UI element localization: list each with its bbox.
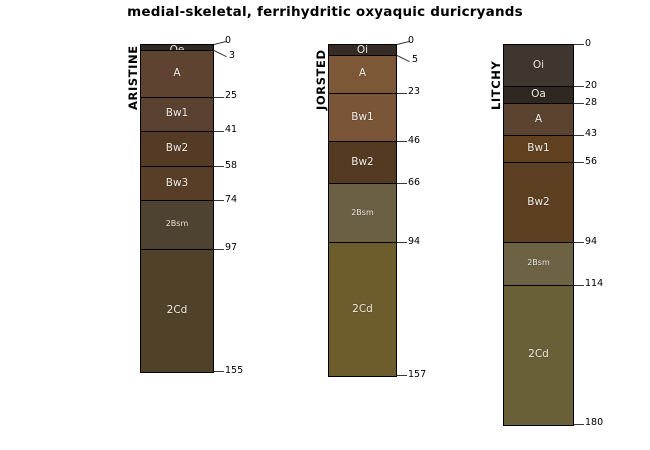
depth-tick-label: 56 <box>585 157 597 167</box>
profile-site-label: ARISTINE <box>126 45 140 110</box>
soil-horizon: Oi <box>504 45 573 87</box>
depth-tick-label: 114 <box>585 279 603 289</box>
depth-tick-line <box>214 371 224 372</box>
soil-horizon: 2Bsm <box>504 243 573 285</box>
soil-horizon: Bw1 <box>141 98 213 132</box>
depth-tick-label: 97 <box>225 243 237 253</box>
horizon-label: 2Bsm <box>141 220 213 228</box>
profile-column: OiABw1Bw22Bsm2Cd <box>328 44 397 377</box>
horizon-label: A <box>329 68 396 79</box>
depth-tick-line <box>214 249 224 250</box>
depth-tick-label: 5 <box>412 55 418 65</box>
profile-column: OiOaABw1Bw22Bsm2Cd <box>503 44 574 426</box>
horizon-label: 2Cd <box>329 304 396 315</box>
depth-tick-label: 20 <box>585 81 597 91</box>
depth-tick-label: 157 <box>408 370 426 380</box>
soil-horizon: A <box>141 51 213 97</box>
depth-tick-label: 23 <box>408 87 420 97</box>
depth-tick-line <box>214 166 224 167</box>
page-title: medial-skeletal, ferrihydritic oxyaquic … <box>0 4 650 20</box>
profile-column: OeABw1Bw2Bw32Bsm2Cd <box>140 44 214 373</box>
horizon-label: Oi <box>329 45 396 56</box>
soil-horizon: Oi <box>329 45 396 56</box>
horizon-label: Bw1 <box>141 108 213 119</box>
horizon-label: Oa <box>504 89 573 100</box>
depth-tick-line <box>397 242 407 243</box>
depth-tick-label: 46 <box>408 136 420 146</box>
soil-horizon: 2Bsm <box>141 201 213 250</box>
horizon-label: Oi <box>504 60 573 71</box>
depth-tick-line <box>214 97 224 98</box>
depth-tick-line <box>574 135 584 136</box>
horizon-label: Bw2 <box>504 197 573 208</box>
soil-horizon: 2Bsm <box>329 184 396 243</box>
horizon-label: Bw2 <box>329 157 396 168</box>
depth-tick-line <box>214 50 227 57</box>
soil-horizon: 2Cd <box>504 286 573 425</box>
depth-tick-label: 180 <box>585 418 603 428</box>
horizon-label: 2Cd <box>504 349 573 360</box>
depth-tick-label: 0 <box>225 36 231 46</box>
depth-tick-line <box>574 424 584 425</box>
depth-tick-label: 0 <box>408 36 414 46</box>
depth-tick-line <box>397 183 407 184</box>
depth-tick-line <box>574 242 584 243</box>
soil-horizon: 2Cd <box>141 250 213 372</box>
depth-tick-label: 43 <box>585 129 597 139</box>
profile-site-label: LITCHY <box>489 61 503 110</box>
depth-tick-label: 94 <box>408 237 420 247</box>
depth-tick-line <box>397 93 407 94</box>
horizon-label: 2Bsm <box>329 209 396 217</box>
depth-tick-line <box>214 131 224 132</box>
depth-tick-label: 58 <box>225 161 237 171</box>
soil-horizon: Bw2 <box>329 142 396 184</box>
horizon-label: A <box>504 114 573 125</box>
depth-tick-label: 0 <box>585 39 591 49</box>
horizon-label: Bw1 <box>504 143 573 154</box>
soil-horizon: Oa <box>504 87 573 104</box>
depth-tick-line <box>574 86 584 87</box>
soil-horizon: A <box>329 56 396 94</box>
soil-horizon: Bw2 <box>141 132 213 168</box>
horizon-label: Bw2 <box>141 143 213 154</box>
depth-tick-line <box>397 55 410 62</box>
soil-horizon: Bw1 <box>504 136 573 163</box>
depth-tick-label: 74 <box>225 195 237 205</box>
depth-tick-line <box>574 103 584 104</box>
depth-tick-label: 3 <box>229 51 235 61</box>
soil-horizon: A <box>504 104 573 136</box>
horizon-label: Bw3 <box>141 178 213 189</box>
horizon-label: A <box>141 68 213 79</box>
soil-horizon: 2Cd <box>329 243 396 376</box>
depth-tick-label: 155 <box>225 366 243 376</box>
depth-tick-label: 28 <box>585 98 597 108</box>
depth-tick-line <box>397 375 407 376</box>
depth-tick-label: 66 <box>408 178 420 188</box>
depth-tick-line <box>574 285 584 286</box>
depth-tick-line <box>574 44 584 45</box>
depth-tick-label: 41 <box>225 125 237 135</box>
depth-tick-label: 25 <box>225 91 237 101</box>
horizon-label: 2Cd <box>141 305 213 316</box>
soil-horizon: Bw2 <box>504 163 573 243</box>
depth-tick-label: 94 <box>585 237 597 247</box>
depth-tick-line <box>574 162 584 163</box>
soil-horizon: Bw1 <box>329 94 396 143</box>
horizon-label: Bw1 <box>329 112 396 123</box>
depth-tick-line <box>214 200 224 201</box>
depth-tick-line <box>397 141 407 142</box>
profile-site-label: JORSTED <box>314 49 328 110</box>
soil-horizon: Bw3 <box>141 167 213 201</box>
horizon-label: 2Bsm <box>504 259 573 267</box>
